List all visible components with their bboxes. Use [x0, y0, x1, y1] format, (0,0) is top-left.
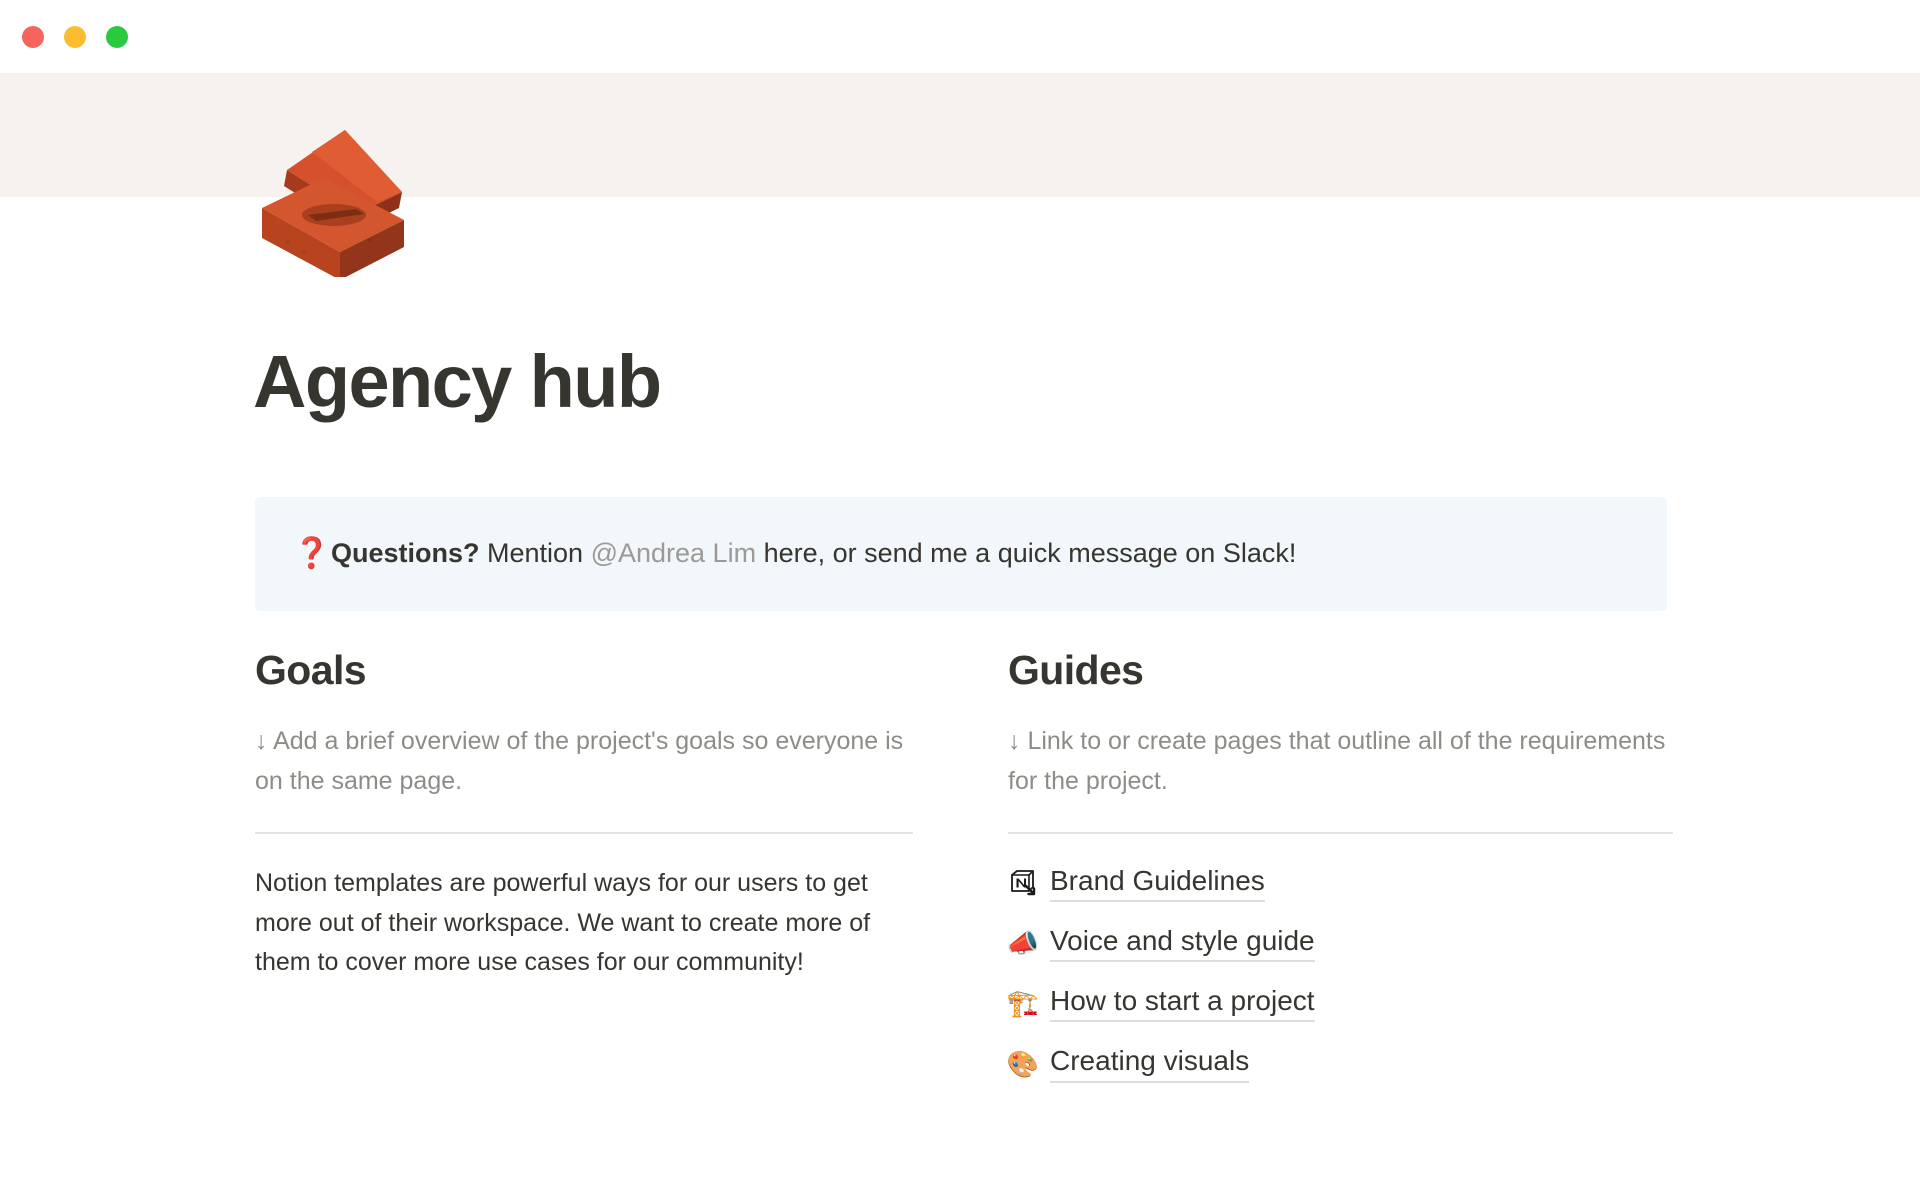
callout-bold-text: Questions? — [331, 538, 480, 568]
megaphone-icon: 📣 — [1008, 930, 1038, 956]
callout-text-part-1: Mention — [480, 538, 591, 568]
guide-link-creating-visuals[interactable]: 🎨 Creating visuals — [1008, 1044, 1249, 1082]
brick-emoji-page-icon[interactable] — [252, 112, 412, 277]
callout-text: Questions? Mention @Andrea Lim here, or … — [331, 536, 1296, 571]
callout-block[interactable]: ❓ Questions? Mention @Andrea Lim here, o… — [255, 497, 1667, 611]
guide-link-voice-and-style-guide[interactable]: 📣 Voice and style guide — [1008, 924, 1315, 962]
artist-palette-icon: 🎨 — [1008, 1051, 1038, 1077]
construction-crane-icon: 🏗️ — [1008, 990, 1038, 1016]
guide-link-label[interactable]: Brand Guidelines — [1050, 864, 1265, 902]
guide-link-label[interactable]: Voice and style guide — [1050, 924, 1315, 962]
guide-link-brand-guidelines[interactable]: Brand Guidelines — [1008, 864, 1265, 902]
goals-heading[interactable]: Goals — [255, 650, 915, 691]
guides-heading[interactable]: Guides — [1008, 650, 1673, 691]
guides-hint: ↓ Link to or create pages that outline a… — [1008, 722, 1673, 801]
page-title[interactable]: Agency hub — [253, 345, 660, 419]
notion-page-link-icon — [1008, 869, 1038, 897]
user-mention[interactable]: @Andrea Lim — [591, 538, 756, 568]
goals-hint: ↓ Add a brief overview of the project's … — [255, 722, 915, 801]
guides-column: Guides ↓ Link to or create pages that ou… — [1008, 650, 1673, 1105]
goals-body-text[interactable]: Notion templates are powerful ways for o… — [255, 864, 915, 983]
question-mark-icon: ❓ — [293, 539, 331, 569]
guide-link-label[interactable]: Creating visuals — [1050, 1044, 1249, 1082]
guide-link-how-to-start-a-project[interactable]: 🏗️ How to start a project — [1008, 984, 1315, 1022]
goals-divider — [255, 832, 913, 834]
guide-link-label[interactable]: How to start a project — [1050, 984, 1315, 1022]
guides-divider — [1008, 832, 1673, 834]
goals-column: Goals ↓ Add a brief overview of the proj… — [255, 650, 915, 983]
callout-text-part-2: here, or send me a quick message on Slac… — [756, 538, 1296, 568]
guides-link-list: Brand Guidelines 📣 Voice and style guide… — [1008, 864, 1673, 1083]
